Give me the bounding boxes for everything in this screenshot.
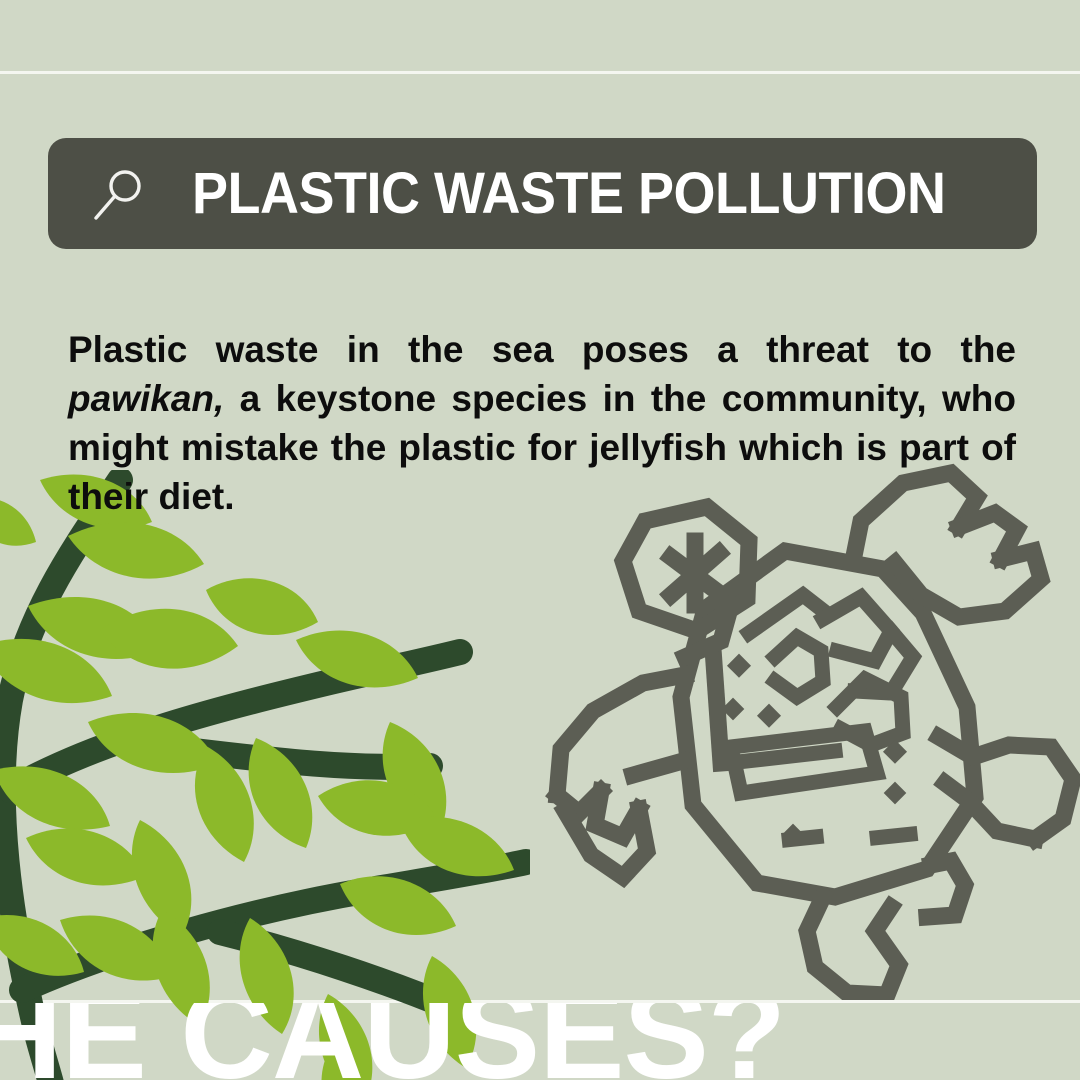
next-section-teaser: HE CAUSES?	[0, 1003, 1080, 1080]
body-lead: Plastic waste in the sea poses a threat …	[68, 329, 1016, 370]
sea-turtle-illustration	[535, 445, 1080, 1000]
body-paragraph: Plastic waste in the sea poses a threat …	[68, 325, 1016, 521]
leafy-branch-illustration	[0, 470, 530, 1080]
divider-line-top	[0, 71, 1080, 74]
body-emphasis-pawikan: pawikan,	[68, 378, 224, 419]
poster-canvas: PLASTIC WASTE POLLUTION Plastic waste in…	[0, 0, 1080, 1080]
search-icon	[92, 166, 148, 222]
next-section-headline: HE CAUSES?	[0, 1003, 785, 1080]
page-title: PLASTIC WASTE POLLUTION	[192, 165, 945, 223]
section-header-bar: PLASTIC WASTE POLLUTION	[48, 138, 1037, 249]
